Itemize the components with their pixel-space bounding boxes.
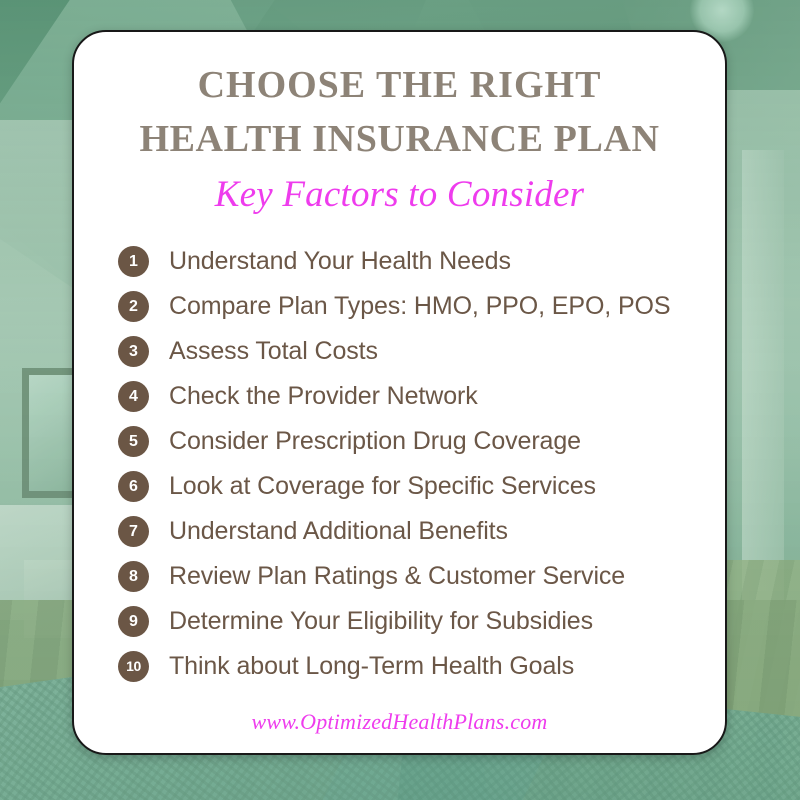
page-title-line-2: HEALTH INSURANCE PLAN (100, 113, 699, 167)
list-item-label: Look at Coverage for Specific Services (169, 472, 596, 501)
heading-block: CHOOSE THE RIGHT HEALTH INSURANCE PLAN K… (74, 32, 725, 217)
list-item: 8 Review Plan Ratings & Customer Service (118, 554, 707, 599)
infographic-card: CHOOSE THE RIGHT HEALTH INSURANCE PLAN K… (72, 30, 727, 755)
website-url[interactable]: www.OptimizedHealthPlans.com (74, 709, 725, 735)
list-item-label: Consider Prescription Drug Coverage (169, 427, 581, 456)
list-item: 6 Look at Coverage for Specific Services (118, 464, 707, 509)
list-item-label: Review Plan Ratings & Customer Service (169, 562, 625, 591)
list-number-badge: 8 (118, 561, 149, 592)
list-item-label: Understand Your Health Needs (169, 247, 511, 276)
list-number-badge: 5 (118, 426, 149, 457)
list-item: 1 Understand Your Health Needs (118, 239, 707, 284)
list-number-badge: 4 (118, 381, 149, 412)
list-number-badge: 7 (118, 516, 149, 547)
list-item-label: Understand Additional Benefits (169, 517, 508, 546)
list-item-label: Check the Provider Network (169, 382, 478, 411)
list-number-badge: 10 (118, 651, 149, 682)
list-item: 2 Compare Plan Types: HMO, PPO, EPO, POS (118, 284, 707, 329)
list-item-label: Determine Your Eligibility for Subsidies (169, 607, 593, 636)
list-item: 7 Understand Additional Benefits (118, 509, 707, 554)
list-item-label: Assess Total Costs (169, 337, 378, 366)
list-item: 9 Determine Your Eligibility for Subsidi… (118, 599, 707, 644)
list-number-badge: 9 (118, 606, 149, 637)
list-item: 10 Think about Long-Term Health Goals (118, 644, 707, 689)
list-item: 4 Check the Provider Network (118, 374, 707, 419)
list-item-label: Think about Long-Term Health Goals (169, 652, 574, 681)
list-number-badge: 6 (118, 471, 149, 502)
list-item-label: Compare Plan Types: HMO, PPO, EPO, POS (169, 292, 670, 321)
list-number-badge: 3 (118, 336, 149, 367)
page-subtitle: Key Factors to Consider (100, 173, 699, 217)
page-title-line-1: CHOOSE THE RIGHT (100, 59, 699, 113)
factors-list: 1 Understand Your Health Needs 2 Compare… (74, 239, 725, 689)
list-number-badge: 2 (118, 291, 149, 322)
list-number-badge: 1 (118, 246, 149, 277)
list-item: 3 Assess Total Costs (118, 329, 707, 374)
list-item: 5 Consider Prescription Drug Coverage (118, 419, 707, 464)
